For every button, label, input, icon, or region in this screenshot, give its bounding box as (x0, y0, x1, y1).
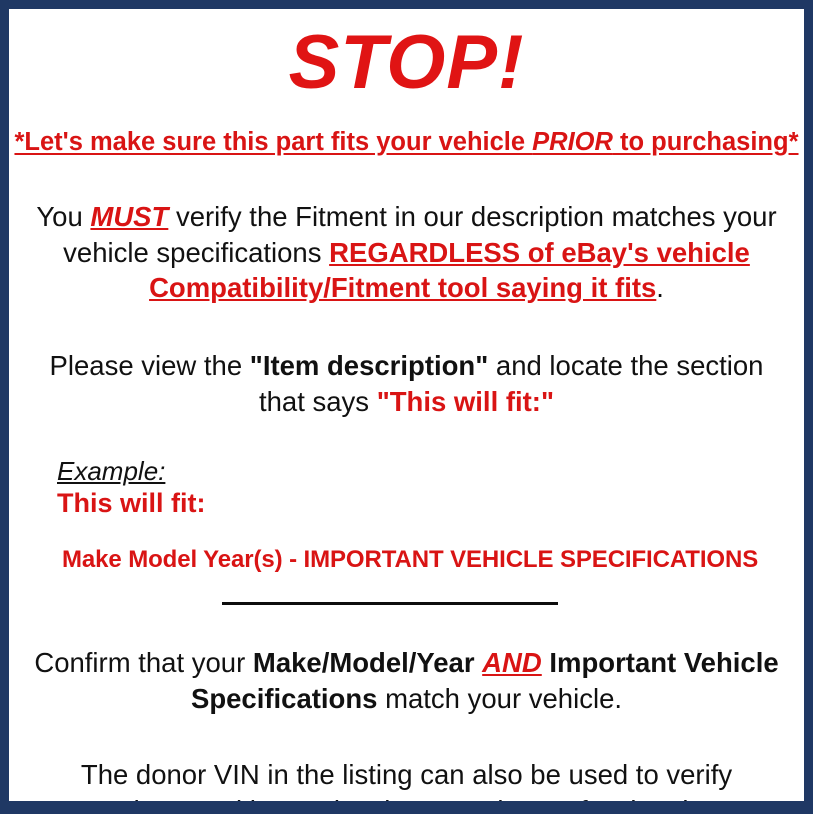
tagline-lead-text: *Let's make sure this part fits your veh… (14, 128, 532, 156)
section-divider (222, 602, 558, 605)
border-left (0, 0, 9, 814)
itemdesc-text-part1: Please view the (50, 350, 250, 381)
item-description-emphasis: "Item description" (250, 350, 488, 381)
example-label-row: Example: (57, 456, 804, 487)
notice-content-area: STOP! *Let's make sure this part fits yo… (9, 9, 804, 801)
tagline-prior-emphasis: PRIOR (532, 128, 613, 156)
paragraph-must-verify: You MUST verify the Fitment in our descr… (9, 199, 804, 306)
must-text-part1: You (36, 201, 90, 232)
and-emphasis: AND (482, 647, 542, 678)
must-text-part3: . (656, 272, 664, 303)
tagline-tail-text: to purchasing* (613, 128, 799, 156)
paragraph-item-description: Please view the "Item description" and l… (9, 348, 804, 420)
tagline: *Let's make sure this part fits your veh… (9, 128, 804, 157)
example-label: Example: (57, 456, 165, 487)
confirm-text-part4: match your vehicle. (377, 683, 622, 714)
must-emphasis: MUST (90, 201, 168, 232)
this-will-fit-emphasis: "This will fit:" (377, 386, 554, 417)
stop-heading: STOP! (9, 9, 804, 104)
confirm-text-part1: Confirm that your (34, 647, 253, 678)
example-block: Example: This will fit: Make Model Year(… (9, 456, 804, 575)
border-top (0, 0, 813, 9)
example-this-will-fit-line: This will fit: (57, 488, 804, 520)
paragraph-confirm: Confirm that your Make/Model/Year AND Im… (9, 645, 804, 717)
make-model-year-emphasis: Make/Model/Year (253, 647, 475, 678)
example-spec-line: Make Model Year(s) - IMPORTANT VEHICLE S… (57, 546, 804, 574)
border-bottom (0, 801, 813, 814)
fitment-notice-banner: STOP! *Let's make sure this part fits yo… (0, 0, 813, 814)
border-right (804, 0, 813, 814)
paragraph-donor-vin: The donor VIN in the listing can also be… (9, 757, 804, 801)
